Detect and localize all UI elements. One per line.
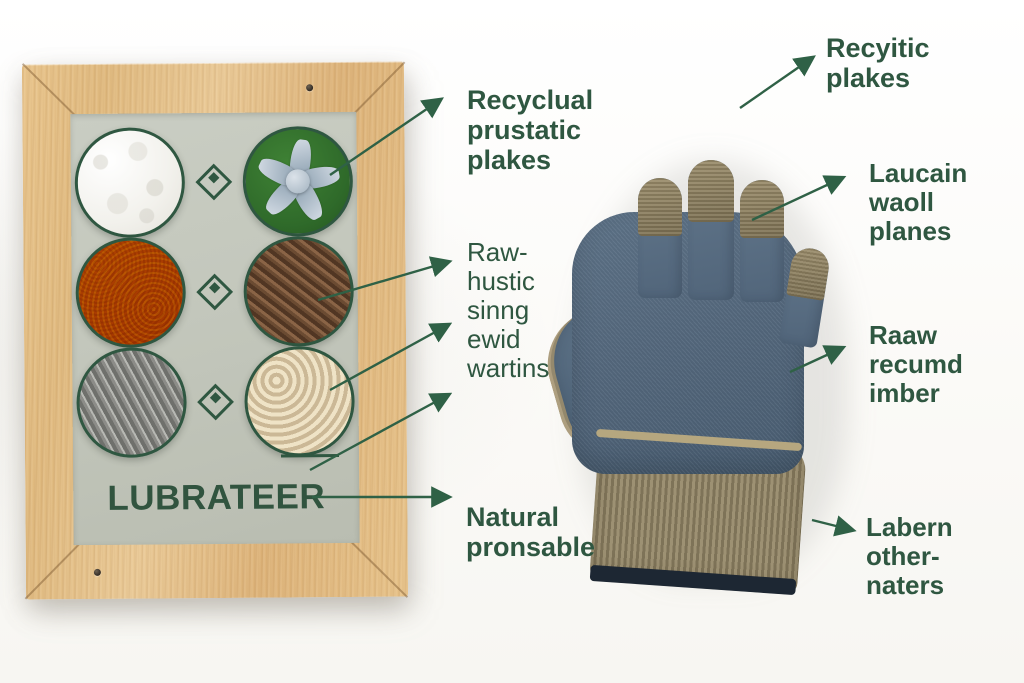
glove-finger-middle <box>688 160 734 300</box>
swatch-row <box>72 346 359 458</box>
swatch-row <box>71 236 358 348</box>
blue-pinwheel-swatch[interactable] <box>242 126 353 237</box>
poster-title: LUBRATEER <box>73 477 359 519</box>
swatch-row <box>70 126 357 238</box>
glove-finger-ring <box>740 180 784 302</box>
frame-nail-top <box>306 84 313 91</box>
golden-granule-swatch[interactable] <box>75 237 186 348</box>
annotation-raaw-recumd-imber: Raaw recumd imber <box>869 321 963 408</box>
glove-fingertip <box>740 180 784 238</box>
diamond-icon <box>195 164 232 201</box>
annotation-labern-other-naters: Labern other- naters <box>866 513 953 600</box>
brown-bark-swatch[interactable] <box>243 236 354 347</box>
diamond-icon <box>197 384 234 421</box>
annotation-recyitic-plakes: Recyitic plakes <box>826 33 930 93</box>
infographic-canvas: LUBRATEER <box>0 0 1024 683</box>
knit-glove[interactable] <box>556 120 876 590</box>
annotation-laucain-waoll-planes: Laucain waoll planes <box>869 159 967 246</box>
poster-mat-board: LUBRATEER <box>70 112 359 545</box>
frame-nail-bottom <box>94 569 101 576</box>
glove-finger-index <box>638 178 682 298</box>
grey-fiber-swatch[interactable] <box>76 347 187 458</box>
wooden-frame[interactable]: LUBRATEER <box>22 62 408 600</box>
beige-crumb-swatch[interactable] <box>244 346 355 457</box>
white-powder-swatch[interactable] <box>74 127 185 238</box>
material-swatch-grid <box>70 126 359 453</box>
glove-fingertip <box>638 178 682 236</box>
pinwheel-hub <box>286 169 310 193</box>
title-rule <box>281 454 339 457</box>
annotation-recyclual-prustatic-plakes: Recyclual prustatic plakes <box>467 85 593 176</box>
diamond-icon <box>196 274 233 311</box>
annotation-raw-hustic-sinng-ewid-wartins: Raw- hustic sinng ewid wartins <box>467 238 549 384</box>
glove-fingertip <box>688 160 734 222</box>
annotation-natural-pronsable: Natural pronsable <box>466 502 595 562</box>
arrow-to-recyitic <box>740 58 812 108</box>
